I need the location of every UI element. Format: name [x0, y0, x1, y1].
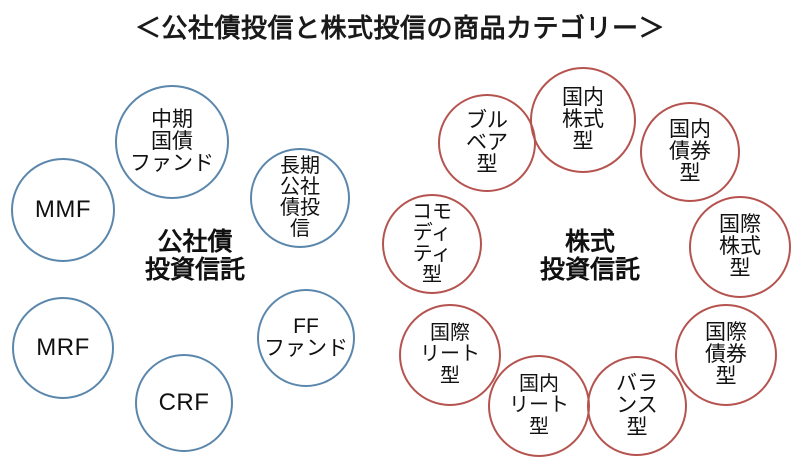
category-bubble-label: 国内 株式 型 [560, 87, 606, 154]
category-bubble-MRF[interactable]: MRF [12, 297, 114, 399]
category-bubble-FFファンド[interactable]: FF ファンド [257, 289, 355, 387]
category-bubble-MMF[interactable]: MMF [11, 158, 115, 262]
category-bubble-国際株式型[interactable]: 国際 株式 型 [689, 196, 791, 298]
category-bubble-バランス型[interactable]: バラ ンス 型 [587, 356, 687, 456]
category-bubble-中期国債ファンド[interactable]: 中期 国債 ファンド [115, 85, 229, 199]
category-bubble-label: コモ ディ ティ 型 [410, 202, 454, 287]
category-bubble-label: 国際 債券 型 [703, 322, 749, 389]
category-bubble-label: MRF [34, 335, 91, 360]
category-bubble-label: CRF [157, 390, 212, 415]
category-bubble-国際債券型[interactable]: 国際 債券 型 [675, 304, 777, 406]
bond-cluster-center-label: 公社債 投資信託 [110, 228, 280, 284]
category-bubble-label: 長期 公社 債投 信 [278, 156, 322, 241]
category-bubble-label: バラ ンス 型 [614, 373, 660, 440]
category-bubble-label: 中期 国債 ファンド [128, 109, 216, 176]
category-bubble-コモディティ型[interactable]: コモ ディ ティ 型 [382, 194, 482, 294]
category-bubble-国内株式型[interactable]: 国内 株式 型 [530, 67, 636, 173]
category-bubble-label: 国内 債券 型 [667, 119, 713, 186]
category-bubble-ブルベア型[interactable]: ブル ベア 型 [438, 94, 536, 192]
category-bubble-label: ブル ベア 型 [464, 110, 510, 177]
category-bubble-label: 国際 リート 型 [418, 323, 482, 387]
category-bubble-国内リート型[interactable]: 国内 リート 型 [488, 355, 590, 457]
equity-cluster-center-label: 株式 投資信託 [500, 228, 680, 284]
page-title: ＜公社債投信と株式投信の商品カテゴリー＞ [0, 8, 800, 45]
category-bubble-CRF[interactable]: CRF [135, 354, 233, 452]
category-bubble-label: 国際 株式 型 [717, 214, 763, 281]
category-bubble-label: MMF [33, 197, 93, 222]
category-bubble-国内債券型[interactable]: 国内 債券 型 [640, 102, 740, 202]
category-bubble-国際リート型[interactable]: 国際 リート 型 [399, 304, 501, 406]
diagram-canvas: ＜公社債投信と株式投信の商品カテゴリー＞ MMF中期 国債 ファンド長期 公社 … [0, 0, 800, 466]
category-bubble-label: FF ファンド [262, 316, 350, 361]
category-bubble-label: 国内 リート 型 [507, 374, 571, 438]
